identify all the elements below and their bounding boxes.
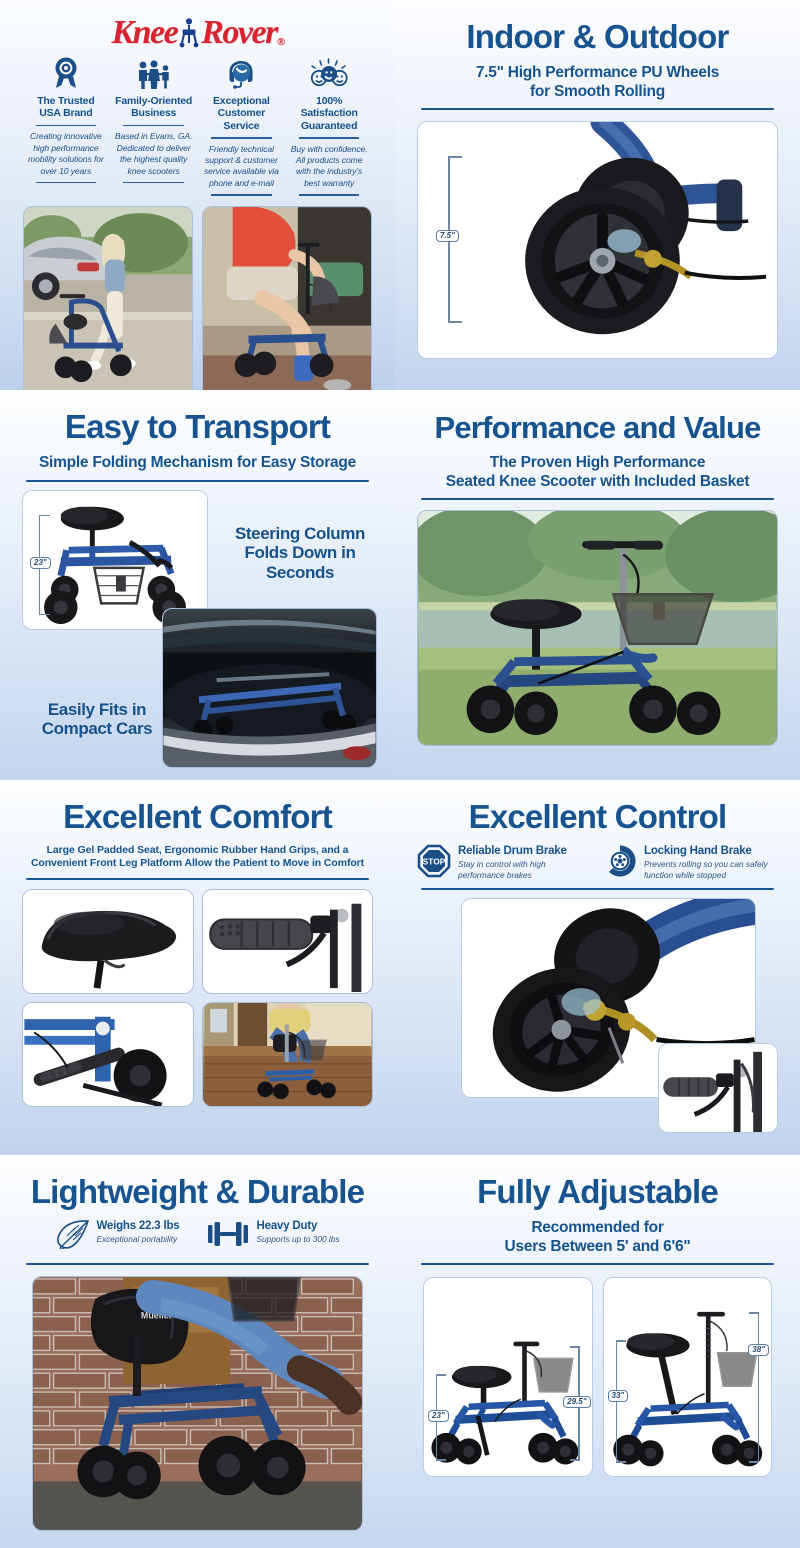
feature-locking-hand-brake: Locking Hand Brake Prevents rolling so y… <box>603 844 778 881</box>
dimension-tick <box>749 1312 759 1313</box>
trust-badge-description: Buy with confidence. All products come w… <box>290 144 368 190</box>
photo-rubber-hand-grip <box>202 889 374 994</box>
transport-layout: 23" Steering Column Folds Down in Second… <box>18 490 377 780</box>
dimension-tick <box>570 1346 580 1347</box>
diagram-highest-setting: 33" 38" <box>603 1277 773 1477</box>
feature-title: Weighs 22.3 lbs <box>96 1220 179 1233</box>
scooter-logo-mark-icon <box>178 18 200 48</box>
photo-scooter-in-park <box>417 510 778 746</box>
panel-excellent-control: Excellent Control STOP Reliable Drum Bra… <box>395 780 800 1155</box>
feather-icon <box>55 1219 89 1253</box>
dimension-tick <box>436 1374 446 1375</box>
divider <box>211 194 272 196</box>
feature-weight: Weighs 22.3 lbs Exceptional portability <box>55 1219 179 1253</box>
panel-title: Performance and Value <box>413 390 782 444</box>
trust-badge-description: Based in Evans, GA. Dedicated to deliver… <box>115 131 193 177</box>
divider <box>26 480 369 482</box>
panel-performance-value: Performance and Value The Proven High Pe… <box>395 390 800 780</box>
panel-title: Lightweight & Durable <box>18 1155 377 1209</box>
dimension-tick <box>448 321 462 323</box>
photo-gel-padded-seat <box>22 889 194 994</box>
dimension-label-seat-max: 33" <box>608 1390 629 1402</box>
panel-lightweight-durable: Lightweight & Durable Weighs 22.3 lbs Ex… <box>0 1155 395 1548</box>
control-photo-layout <box>413 898 782 1133</box>
photo-front-leg-platform <box>22 1002 194 1107</box>
panel-subtitle: Recommended for Users Between 5' and 6'6… <box>413 1219 782 1257</box>
divider <box>211 137 272 139</box>
dimension-label-wheel-diameter: 7.5" <box>436 230 459 242</box>
feature-drum-brake: STOP Reliable Drum Brake Stay in control… <box>417 844 581 881</box>
durability-features: Weighs 22.3 lbs Exceptional portability … <box>18 1209 377 1253</box>
divider <box>123 125 184 127</box>
divider <box>26 1263 369 1265</box>
award-ribbon-icon <box>51 56 81 90</box>
panel-title: Excellent Control <box>413 780 782 834</box>
panel-brand-trust: Knee Rover ® <box>0 0 395 390</box>
panel-excellent-comfort: Excellent Comfort Large Gel Padded Seat,… <box>0 780 395 1155</box>
photo-scooter-in-car-trunk <box>162 608 377 768</box>
comfort-photo-grid <box>18 880 377 1107</box>
brake-disc-icon <box>603 844 637 878</box>
headset-support-icon <box>224 56 258 90</box>
panel-title: Easy to Transport <box>18 390 377 444</box>
stop-sign-icon: STOP <box>417 844 451 878</box>
photo-patient-indoors <box>202 1002 374 1107</box>
trust-badges: The Trusted USA Brand Creating innovativ… <box>18 52 377 196</box>
dimension-tick <box>616 1340 626 1341</box>
divider <box>123 182 184 184</box>
dimension-tick <box>616 1461 626 1462</box>
divider <box>36 182 97 184</box>
feature-heavy-duty: Heavy Duty Supports up to 300 lbs <box>206 1219 340 1253</box>
dimension-label-seat-min: 23" <box>428 1410 449 1422</box>
lifestyle-photos <box>18 196 377 390</box>
trust-badge-customer-service: Exceptional Customer Service Friendly te… <box>198 56 286 196</box>
panel-title: Excellent Comfort <box>18 780 377 834</box>
logo-text-knee: Knee <box>111 14 177 52</box>
trust-badge-description: Friendly technical support & customer se… <box>203 144 281 190</box>
trust-badge-title: Exceptional Customer Service <box>203 95 281 132</box>
family-group-icon <box>134 56 174 90</box>
dimension-tick <box>570 1459 580 1460</box>
dimension-tick <box>39 515 50 516</box>
trust-badge-title: The Trusted USA Brand <box>37 95 94 120</box>
trust-badge-family-business: Family-Oriented Business Based in Evans,… <box>110 56 198 196</box>
dimension-tick <box>39 614 50 615</box>
feature-description: Supports up to 300 lbs <box>257 1234 340 1245</box>
panel-indoor-outdoor: Indoor & Outdoor 7.5" High Performance P… <box>395 0 800 390</box>
feature-description: Stay in control with high performance br… <box>458 859 581 880</box>
callout-compact-cars: Easily Fits in Compact Cars <box>22 700 172 739</box>
kneerover-logo: Knee Rover ® <box>18 0 377 52</box>
control-features: STOP Reliable Drum Brake Stay in control… <box>413 834 782 881</box>
feature-title: Heavy Duty <box>257 1220 340 1233</box>
dumbbell-icon <box>206 1219 250 1253</box>
dimension-label-handle-min: 29.5" <box>563 1396 590 1408</box>
dimension-label-folded-height: 23" <box>30 557 51 569</box>
panel-subtitle: Simple Folding Mechanism for Easy Storag… <box>18 454 377 473</box>
photo-woman-using-scooter-outdoors <box>23 206 193 390</box>
panel-fully-adjustable: Fully Adjustable Recommended for Users B… <box>395 1155 800 1548</box>
trust-badge-description: Creating innovative high performance mob… <box>27 131 105 177</box>
divider <box>36 125 97 127</box>
dimension-label-handle-max: 38" <box>748 1344 769 1356</box>
callout-steering-column: Steering Column Folds Down in Seconds <box>225 524 375 583</box>
logo-text-rover: Rover <box>201 14 277 52</box>
panel-title: Indoor & Outdoor <box>413 0 782 54</box>
feature-title: Reliable Drum Brake <box>458 845 581 858</box>
dimension-line <box>758 1312 759 1462</box>
feature-title: Locking Hand Brake <box>644 845 778 858</box>
panel-subtitle: Large Gel Padded Seat, Ergonomic Rubber … <box>18 844 377 871</box>
dimension-tick <box>749 1461 759 1462</box>
photo-man-seated-on-scooter <box>202 206 372 390</box>
divider <box>421 498 774 500</box>
product-infographic: Knee Rover ® <box>0 0 800 1548</box>
dimension-tick <box>448 156 462 158</box>
panel-subtitle: The Proven High Performance Seated Knee … <box>413 454 782 492</box>
trust-badge-title: 100% Satisfaction Guaranteed <box>290 95 368 132</box>
diagram-lowest-setting: 23" 29.5" <box>423 1277 593 1477</box>
trust-badge-title: Family-Oriented Business <box>115 95 192 120</box>
panel-easy-transport: Easy to Transport Simple Folding Mechani… <box>0 390 395 780</box>
dimension-tick <box>436 1459 446 1460</box>
svg-text:STOP: STOP <box>423 856 446 866</box>
wheel-closeup-photo: 7.5" <box>417 121 778 359</box>
trust-badge-usa-brand: The Trusted USA Brand Creating innovativ… <box>22 56 110 196</box>
adjustable-diagrams: 23" 29.5" <box>413 1265 782 1477</box>
registered-trademark-mark: ® <box>277 36 284 52</box>
photo-hand-brake-lever <box>658 1043 778 1133</box>
feature-description: Exceptional portability <box>96 1234 179 1245</box>
photo-user-kneeling-on-scooter: Mueller <box>32 1276 363 1531</box>
divider <box>421 108 774 110</box>
divider <box>421 888 774 890</box>
trust-badge-satisfaction: 100% Satisfaction Guaranteed Buy with co… <box>285 56 373 196</box>
feature-description: Prevents rolling so you can safely funct… <box>644 859 778 880</box>
panel-subtitle: 7.5" High Performance PU Wheels for Smoo… <box>413 64 782 102</box>
panel-title: Fully Adjustable <box>413 1155 782 1209</box>
smiley-faces-icon <box>306 56 352 90</box>
divider <box>299 194 360 196</box>
divider <box>299 137 360 139</box>
